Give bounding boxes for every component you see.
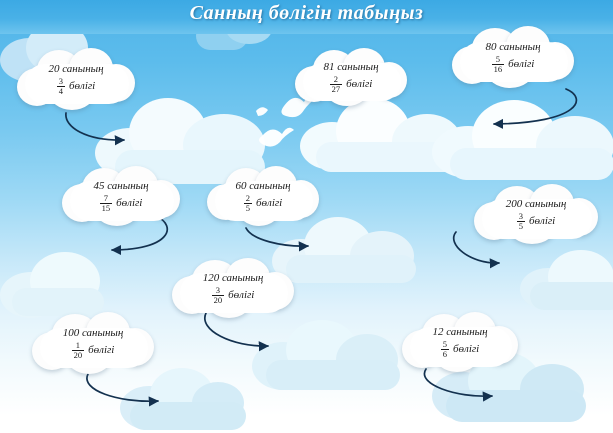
task-bubble-80[interactable]: 80 санының 5 16 бөлігі — [450, 26, 576, 88]
fraction-denominator: 5 — [517, 221, 525, 231]
fraction-numerator: 7 — [102, 194, 110, 203]
dove-icon — [259, 128, 294, 147]
page-title: Санның бөлігін табыңыз — [0, 2, 613, 25]
fraction: 3 4 — [57, 77, 65, 96]
task-text-80: 80 санының 5 16 бөлігі — [450, 26, 576, 88]
fraction: 1 20 — [72, 341, 85, 360]
fraction: 2 5 — [244, 194, 252, 213]
fraction-numerator: 5 — [441, 340, 449, 349]
fraction-denominator: 4 — [57, 86, 65, 96]
task-of-word: санының — [82, 327, 123, 339]
task-number: 20 — [48, 63, 59, 75]
fraction-denominator: 16 — [492, 64, 505, 74]
task-text-120: 120 санының 3 20 бөлігі — [170, 258, 296, 318]
task-number: 80 — [485, 41, 496, 53]
fraction-denominator: 27 — [330, 84, 343, 94]
task-bubble-81[interactable]: 81 санының 2 27 бөлігі — [293, 48, 409, 106]
dove-icon — [256, 107, 268, 116]
task-bubble-12[interactable]: 12 санының 5 6 бөлігі — [400, 312, 520, 372]
task-number: 45 — [93, 180, 104, 192]
task-of-word: санының — [337, 61, 378, 73]
fraction-numerator: 5 — [494, 55, 502, 64]
fraction-numerator: 2 — [332, 75, 340, 84]
task-text-20: 20 санының 3 4 бөлігі — [15, 48, 137, 110]
task-part-word: бөлігі — [346, 78, 372, 91]
fraction-denominator: 20 — [212, 295, 225, 305]
fraction-denominator: 5 — [244, 203, 252, 213]
fraction-numerator: 3 — [214, 286, 222, 295]
fraction: 3 20 — [212, 286, 225, 305]
task-number: 120 — [203, 272, 220, 284]
task-number: 60 — [235, 180, 246, 192]
task-part-word: бөлігі — [453, 343, 479, 356]
task-text-12: 12 санының 5 6 бөлігі — [400, 312, 520, 372]
fraction-denominator: 20 — [72, 350, 85, 360]
task-part-word: бөлігі — [529, 215, 555, 228]
fraction-denominator: 15 — [100, 203, 113, 213]
task-bubble-120[interactable]: 120 санының 3 20 бөлігі — [170, 258, 296, 318]
task-text-200: 200 санының 3 5 бөлігі — [472, 184, 600, 244]
task-part-word: бөлігі — [508, 58, 534, 71]
fraction-numerator: 1 — [74, 341, 82, 350]
fraction-numerator: 3 — [517, 212, 525, 221]
task-bubble-60[interactable]: 60 санының 2 5 бөлігі — [205, 166, 321, 226]
task-of-word: санының — [249, 180, 290, 192]
task-of-word: санының — [62, 63, 103, 75]
task-part-word: бөлігі — [256, 197, 282, 210]
task-text-100: 100 санының 1 20 бөлігі — [30, 312, 156, 374]
task-bubble-20[interactable]: 20 санының 3 4 бөлігі — [15, 48, 137, 110]
task-of-word: санының — [222, 272, 263, 284]
task-of-word: санының — [499, 41, 540, 53]
task-bubble-45[interactable]: 45 санының 7 15 бөлігі — [60, 166, 182, 226]
fraction-denominator: 6 — [441, 349, 449, 359]
task-of-word: санының — [525, 198, 566, 210]
task-number: 81 — [323, 61, 334, 73]
task-part-word: бөлігі — [88, 344, 114, 357]
task-of-word: санының — [446, 326, 487, 338]
task-number: 100 — [63, 327, 80, 339]
task-bubble-100[interactable]: 100 санының 1 20 бөлігі — [30, 312, 156, 374]
slide-canvas: Санның бөлігін табыңыз 20 санының 3 4 бө… — [0, 0, 613, 433]
task-text-45: 45 санының 7 15 бөлігі — [60, 166, 182, 226]
fraction: 7 15 — [100, 194, 113, 213]
task-part-word: бөлігі — [116, 197, 142, 210]
task-of-word: санының — [107, 180, 148, 192]
task-bubble-200[interactable]: 200 санының 3 5 бөлігі — [472, 184, 600, 244]
fraction: 3 5 — [517, 212, 525, 231]
fraction: 5 16 — [492, 55, 505, 74]
task-text-60: 60 санының 2 5 бөлігі — [205, 166, 321, 226]
fraction-numerator: 3 — [57, 77, 65, 86]
task-part-word: бөлігі — [69, 80, 95, 93]
fraction-numerator: 2 — [244, 194, 252, 203]
fraction: 2 27 — [330, 75, 343, 94]
fraction: 5 6 — [441, 340, 449, 359]
task-part-word: бөлігі — [228, 289, 254, 302]
task-number: 200 — [506, 198, 523, 210]
task-number: 12 — [432, 326, 443, 338]
task-text-81: 81 санының 2 27 бөлігі — [293, 48, 409, 106]
